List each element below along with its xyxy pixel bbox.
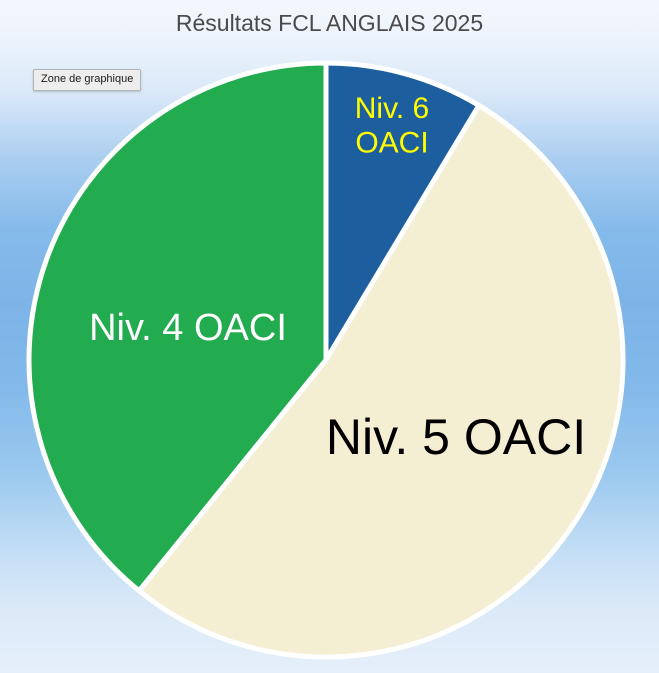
- pie-slice-label: Niv. 5 OACI: [326, 409, 586, 465]
- chart-canvas: Résultats FCL ANGLAIS 2025 Niv. 6OACINiv…: [0, 0, 659, 673]
- pie-slice-label: Niv. 4 OACI: [89, 307, 287, 349]
- pie-slices[interactable]: [29, 63, 623, 657]
- pie-chart[interactable]: Niv. 6OACINiv. 5 OACINiv. 4 OACI: [0, 0, 659, 673]
- pie-slice-label: Niv. 6OACI: [355, 92, 429, 160]
- pie-slice-label-line: Niv. 6: [355, 92, 429, 125]
- plot-area-tooltip: Zone de graphique: [33, 69, 141, 91]
- pie-slice-label-line: Niv. 4 OACI: [89, 307, 287, 349]
- pie-slice-label-line: OACI: [355, 126, 428, 159]
- pie-slice-label-line: Niv. 5 OACI: [326, 409, 586, 465]
